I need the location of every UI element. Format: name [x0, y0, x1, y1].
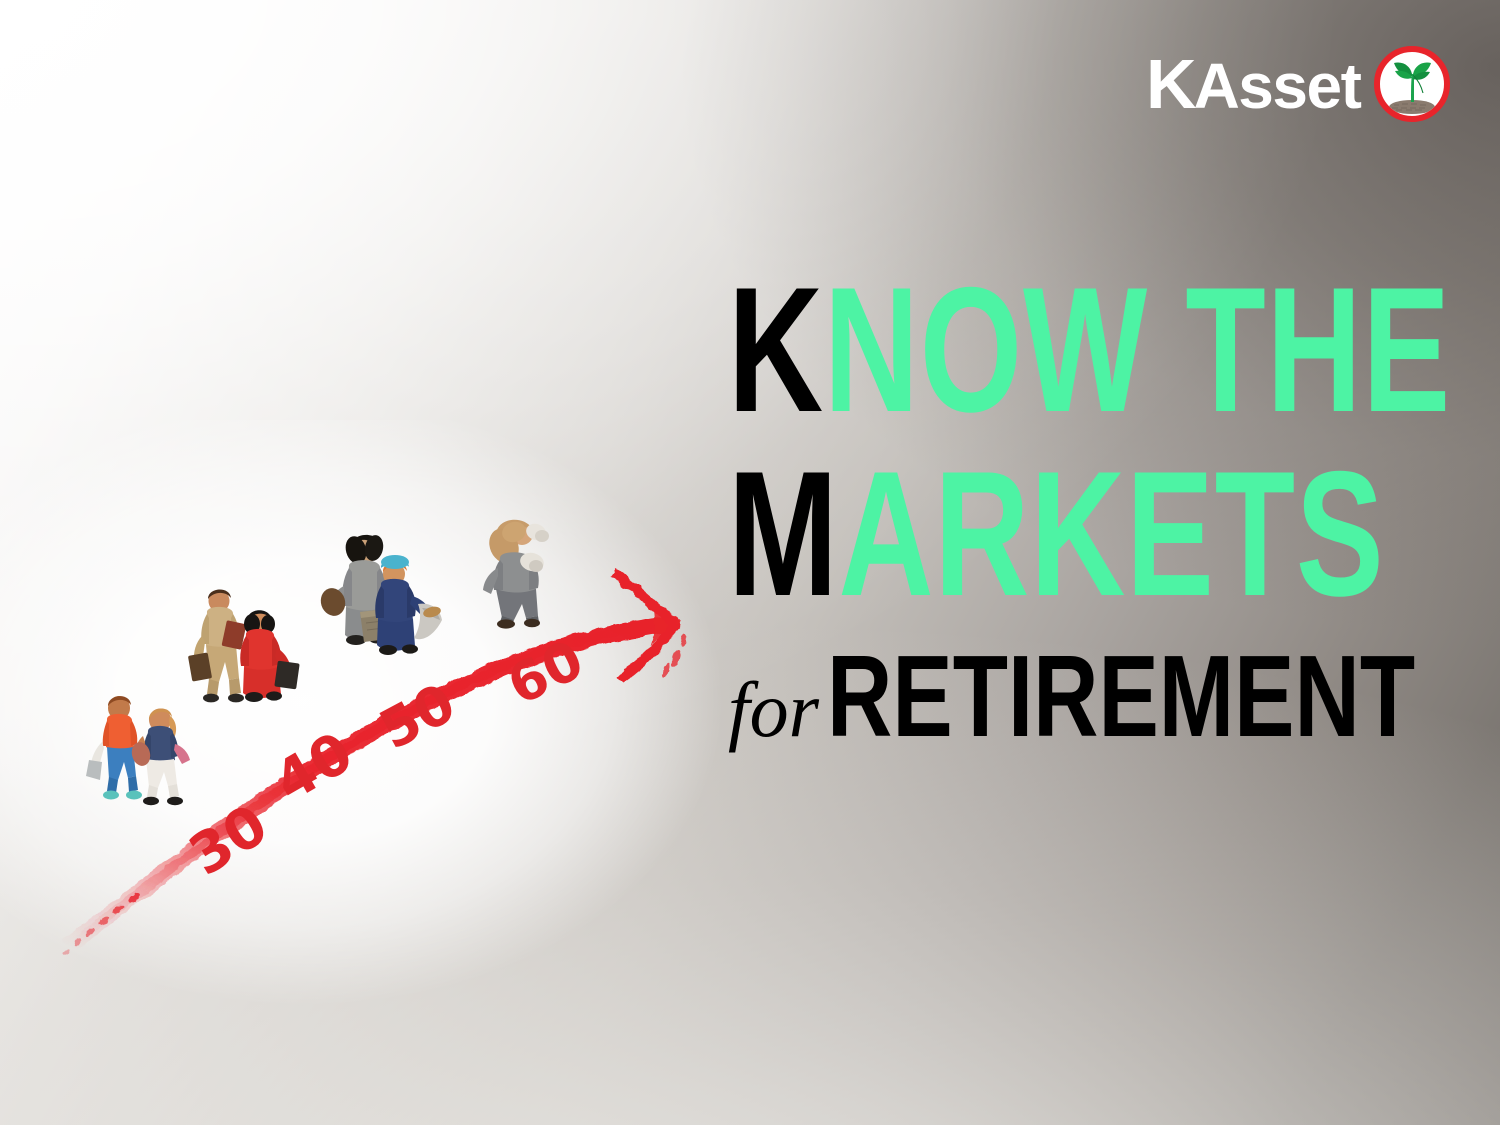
- title-slide: K Asset: [0, 0, 1500, 1125]
- headline-line-2-rest: ARKETS: [838, 434, 1384, 633]
- kasset-logo[interactable]: K Asset: [1146, 46, 1450, 122]
- slide-headline: KNOW THE MARKETS for RETIREMENT: [728, 268, 1408, 758]
- headline-line-2: MARKETS: [728, 452, 1231, 622]
- figurine-group-senior-person: [470, 512, 570, 628]
- headline-line-1-rest: NOW THE: [824, 250, 1451, 449]
- figurine-group-working-adults: [188, 578, 300, 706]
- kasset-wordmark: K Asset: [1146, 49, 1360, 119]
- headline-retirement: RETIREMENT: [827, 638, 1415, 754]
- headline-accent-m: M: [728, 434, 838, 633]
- kasset-wordmark-rest: Asset: [1194, 54, 1361, 118]
- figurine-group-young-couple: [82, 676, 202, 806]
- kasset-wordmark-k: K: [1146, 49, 1194, 119]
- seedling-in-circle-icon: [1374, 46, 1450, 122]
- headline-line-3: for RETIREMENT: [728, 638, 1408, 758]
- headline-for-word: for: [728, 671, 819, 749]
- headline-line-1: KNOW THE: [728, 268, 1231, 438]
- figurine-group-mid-life-travellers: [322, 524, 444, 660]
- headline-accent-k: K: [728, 250, 824, 449]
- retirement-timeline-photo: 30 40 50 60: [60, 480, 740, 960]
